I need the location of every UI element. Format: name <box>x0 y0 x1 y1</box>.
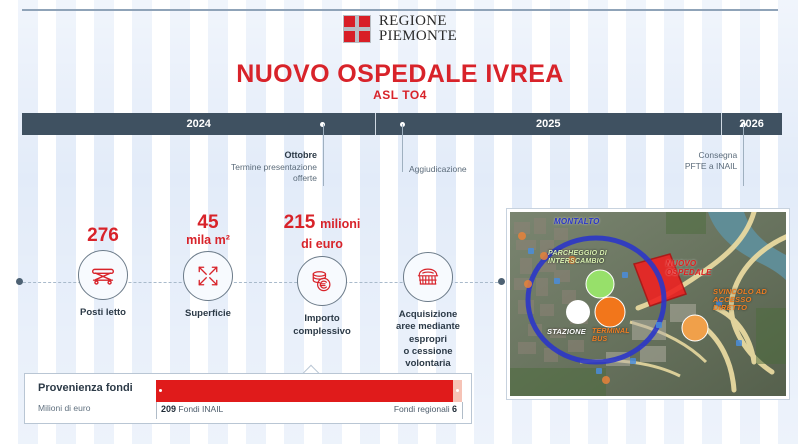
page-subtitle: ASL TO4 <box>0 88 800 102</box>
brand-line-2: PIEMONTE <box>379 29 457 44</box>
timeline-year-2025: 2025 <box>375 113 721 135</box>
timeline-milestone-stem <box>743 124 744 186</box>
map-label: MONTALTO <box>554 218 600 227</box>
kpi-posti-letto: 276 Posti letto <box>48 225 158 320</box>
brand-wordmark: REGIONE PIEMONTE <box>379 14 457 45</box>
kpi-value-main: 45 <box>153 212 263 233</box>
regione-piemonte-cross-logo <box>343 15 371 43</box>
kpi-label: Superficie <box>153 308 263 320</box>
timeline-year-divider <box>721 113 722 135</box>
brand-line-1: REGIONE <box>379 14 457 29</box>
brand-lockup: REGIONE PIEMONTE <box>0 14 800 45</box>
timeline-year-divider <box>375 113 376 135</box>
kpi-value: 215 milioni di euro <box>267 212 377 252</box>
timeline-milestone-bold: Ottobre <box>284 150 317 160</box>
kpi-importo-complessivo: 215 milioni di euro Importo complessivo <box>267 212 377 338</box>
map-label: TERMINAL BUS <box>592 328 630 343</box>
kpi-label: Importo complessivo <box>267 313 377 338</box>
kpi-superficie: 45 mila m² Superficie <box>153 212 263 321</box>
funding-bar <box>156 380 462 402</box>
timeline-milestone-text: Aggiudicazione <box>409 164 467 174</box>
kpi-acquisizione-aree: Acquisizione aree mediante espropri o ce… <box>373 248 483 371</box>
kpi-value: 276 <box>48 225 158 246</box>
timeline-year-2026: 2026 <box>721 113 782 135</box>
kpi-connector-end-dot <box>498 278 505 285</box>
land-plot-icon <box>403 252 453 302</box>
map-label: PARCHEGGIO DI INTERSCAMBIO <box>548 250 607 265</box>
kpi-value-line: 215 milioni di euro <box>267 212 377 252</box>
funding-value-regionali: 6 <box>452 404 457 414</box>
funding-label-inail: Fondi INAIL <box>178 404 223 414</box>
timeline-milestone-note: Aggiudicazione <box>409 164 467 175</box>
funding-tick-left <box>156 402 157 419</box>
timeline-milestone-stem <box>402 124 403 172</box>
map-label: STAZIONE <box>547 328 586 336</box>
area-arrows-icon <box>183 251 233 301</box>
euro-coins-icon <box>297 256 347 306</box>
page-title: NUOVO OSPEDALE IVREA <box>0 60 800 89</box>
content-layer: REGIONE PIEMONTE NUOVO OSPEDALE IVREA AS… <box>0 0 800 444</box>
funding-panel: Provenienza fondi Milioni di euro 209 Fo… <box>24 373 472 424</box>
funding-value-inail: 209 <box>161 404 176 414</box>
kpi-value-main: 276 <box>87 225 119 246</box>
hospital-bed-icon <box>78 250 128 300</box>
map-label: NUOVO OSPEDALE <box>666 260 712 277</box>
funding-unit: Milioni di euro <box>38 403 90 413</box>
timeline-milestone-text: Termine presentazione offerte <box>231 162 317 183</box>
funding-tick-right <box>462 402 463 419</box>
funding-label-regionali: Fondi regionali <box>394 404 450 414</box>
map-label: SVINCOLO AD ACCESSO DIRETTO <box>713 288 767 312</box>
kpi-connector-start-dot <box>16 278 23 285</box>
timeline-milestone-stem <box>323 124 324 186</box>
timeline-milestone-text: Consegna PFTE a INAIL <box>685 150 737 171</box>
funding-legend-regionali: Fondi regionali 6 <box>394 404 457 414</box>
funding-segment-inail[interactable] <box>156 380 453 402</box>
kpi-value-sub: mila m² <box>153 233 263 247</box>
kpi-value-main: 215 <box>284 212 316 233</box>
timeline-milestone-note: Consegna PFTE a INAIL <box>685 150 737 172</box>
satellite-map-image: MONTALTOPARCHEGGIO DI INTERSCAMBIONUOVO … <box>510 212 786 396</box>
funding-legend-inail: 209 Fondi INAIL <box>161 404 223 414</box>
funding-title: Provenienza fondi <box>38 382 133 394</box>
kpi-value: 45 mila m² <box>153 212 263 247</box>
timeline-milestone-note: OttobreTermine presentazione offerte <box>231 150 317 184</box>
site-map-panel[interactable]: MONTALTOPARCHEGGIO DI INTERSCAMBIONUOVO … <box>506 208 790 400</box>
kpi-label: Acquisizione aree mediante espropri o ce… <box>373 309 483 371</box>
kpi-label: Posti letto <box>48 307 158 319</box>
header-divider <box>22 9 778 11</box>
funding-segment-regionali[interactable] <box>453 380 462 402</box>
